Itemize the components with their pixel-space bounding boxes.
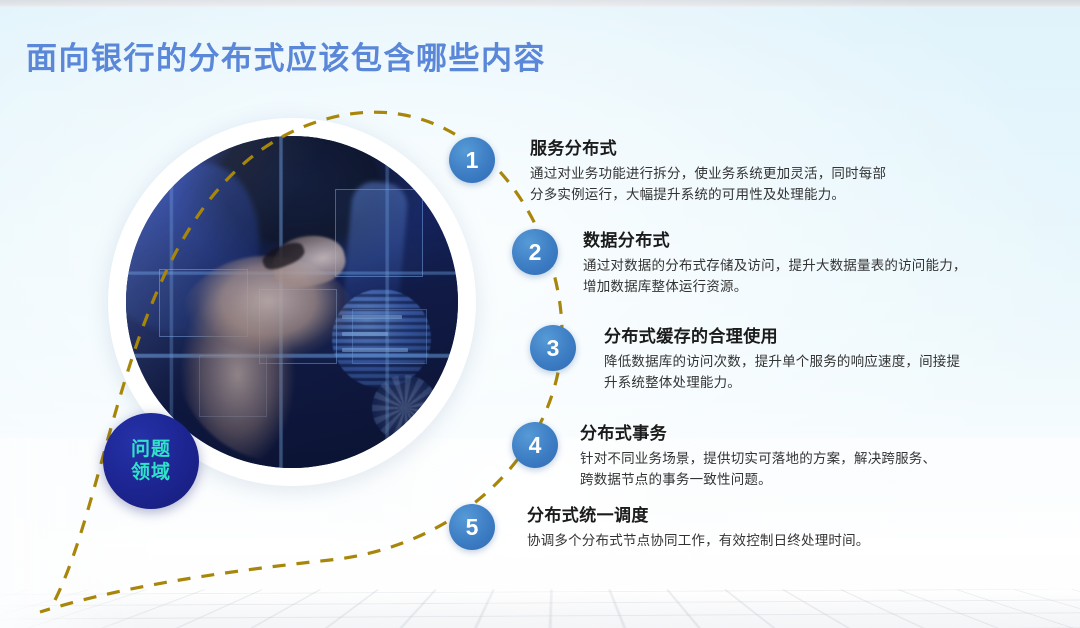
item-number-badge: 4 — [512, 422, 558, 468]
item-number-badge: 2 — [512, 229, 558, 275]
item-heading: 数据分布式 — [583, 226, 1063, 251]
item-body: 降低数据库的访问次数，提升单个服务的响应速度，间接提 升系统整体处理能力。 — [604, 351, 1074, 393]
item-number-badge: 1 — [449, 137, 495, 183]
item-heading: 分布式统一调度 — [527, 501, 997, 526]
item-body: 通过对数据的分布式存储及访问，提升大数据量表的访问能力， 增加数据库整体运行资源… — [583, 255, 1063, 297]
photo-gloss — [126, 136, 458, 468]
item-body: 协调多个分布式节点协同工作，有效控制日终处理时间。 — [527, 530, 997, 551]
item-heading: 服务分布式 — [530, 134, 970, 159]
item-number-badge: 3 — [530, 325, 576, 371]
badge-line-1: 问题 — [131, 438, 171, 461]
item-heading: 分布式事务 — [580, 419, 1050, 444]
badge-line-2: 领域 — [131, 461, 171, 484]
item-text: 分布式事务 针对不同业务场景，提供切实可落地的方案，解决跨服务、 跨数据节点的事… — [580, 419, 1050, 490]
item-number-badge: 5 — [449, 504, 495, 550]
item-body: 通过对业务功能进行拆分，使业务系统更加灵活，同时每部 分多实例运行，大幅提升系统… — [530, 163, 970, 205]
item-text: 分布式缓存的合理使用 降低数据库的访问次数，提升单个服务的响应速度，间接提 升系… — [604, 322, 1074, 393]
item-text: 数据分布式 通过对数据的分布式存储及访问，提升大数据量表的访问能力， 增加数据库… — [583, 226, 1063, 297]
problem-domain-badge: 问题 领域 — [103, 413, 199, 509]
item-heading: 分布式缓存的合理使用 — [604, 322, 1074, 347]
top-edge-strip — [0, 0, 1080, 7]
item-text: 分布式统一调度 协调多个分布式节点协同工作，有效控制日终处理时间。 — [527, 501, 997, 551]
photo-image — [126, 136, 458, 468]
item-body: 针对不同业务场景，提供切实可落地的方案，解决跨服务、 跨数据节点的事务一致性问题… — [580, 448, 1050, 490]
slide-canvas: 面向银行的分布式应该包含哪些内容 — [0, 0, 1080, 628]
item-text: 服务分布式 通过对业务功能进行拆分，使业务系统更加灵活，同时每部 分多实例运行，… — [530, 134, 970, 205]
page-title: 面向银行的分布式应该包含哪些内容 — [26, 33, 546, 78]
